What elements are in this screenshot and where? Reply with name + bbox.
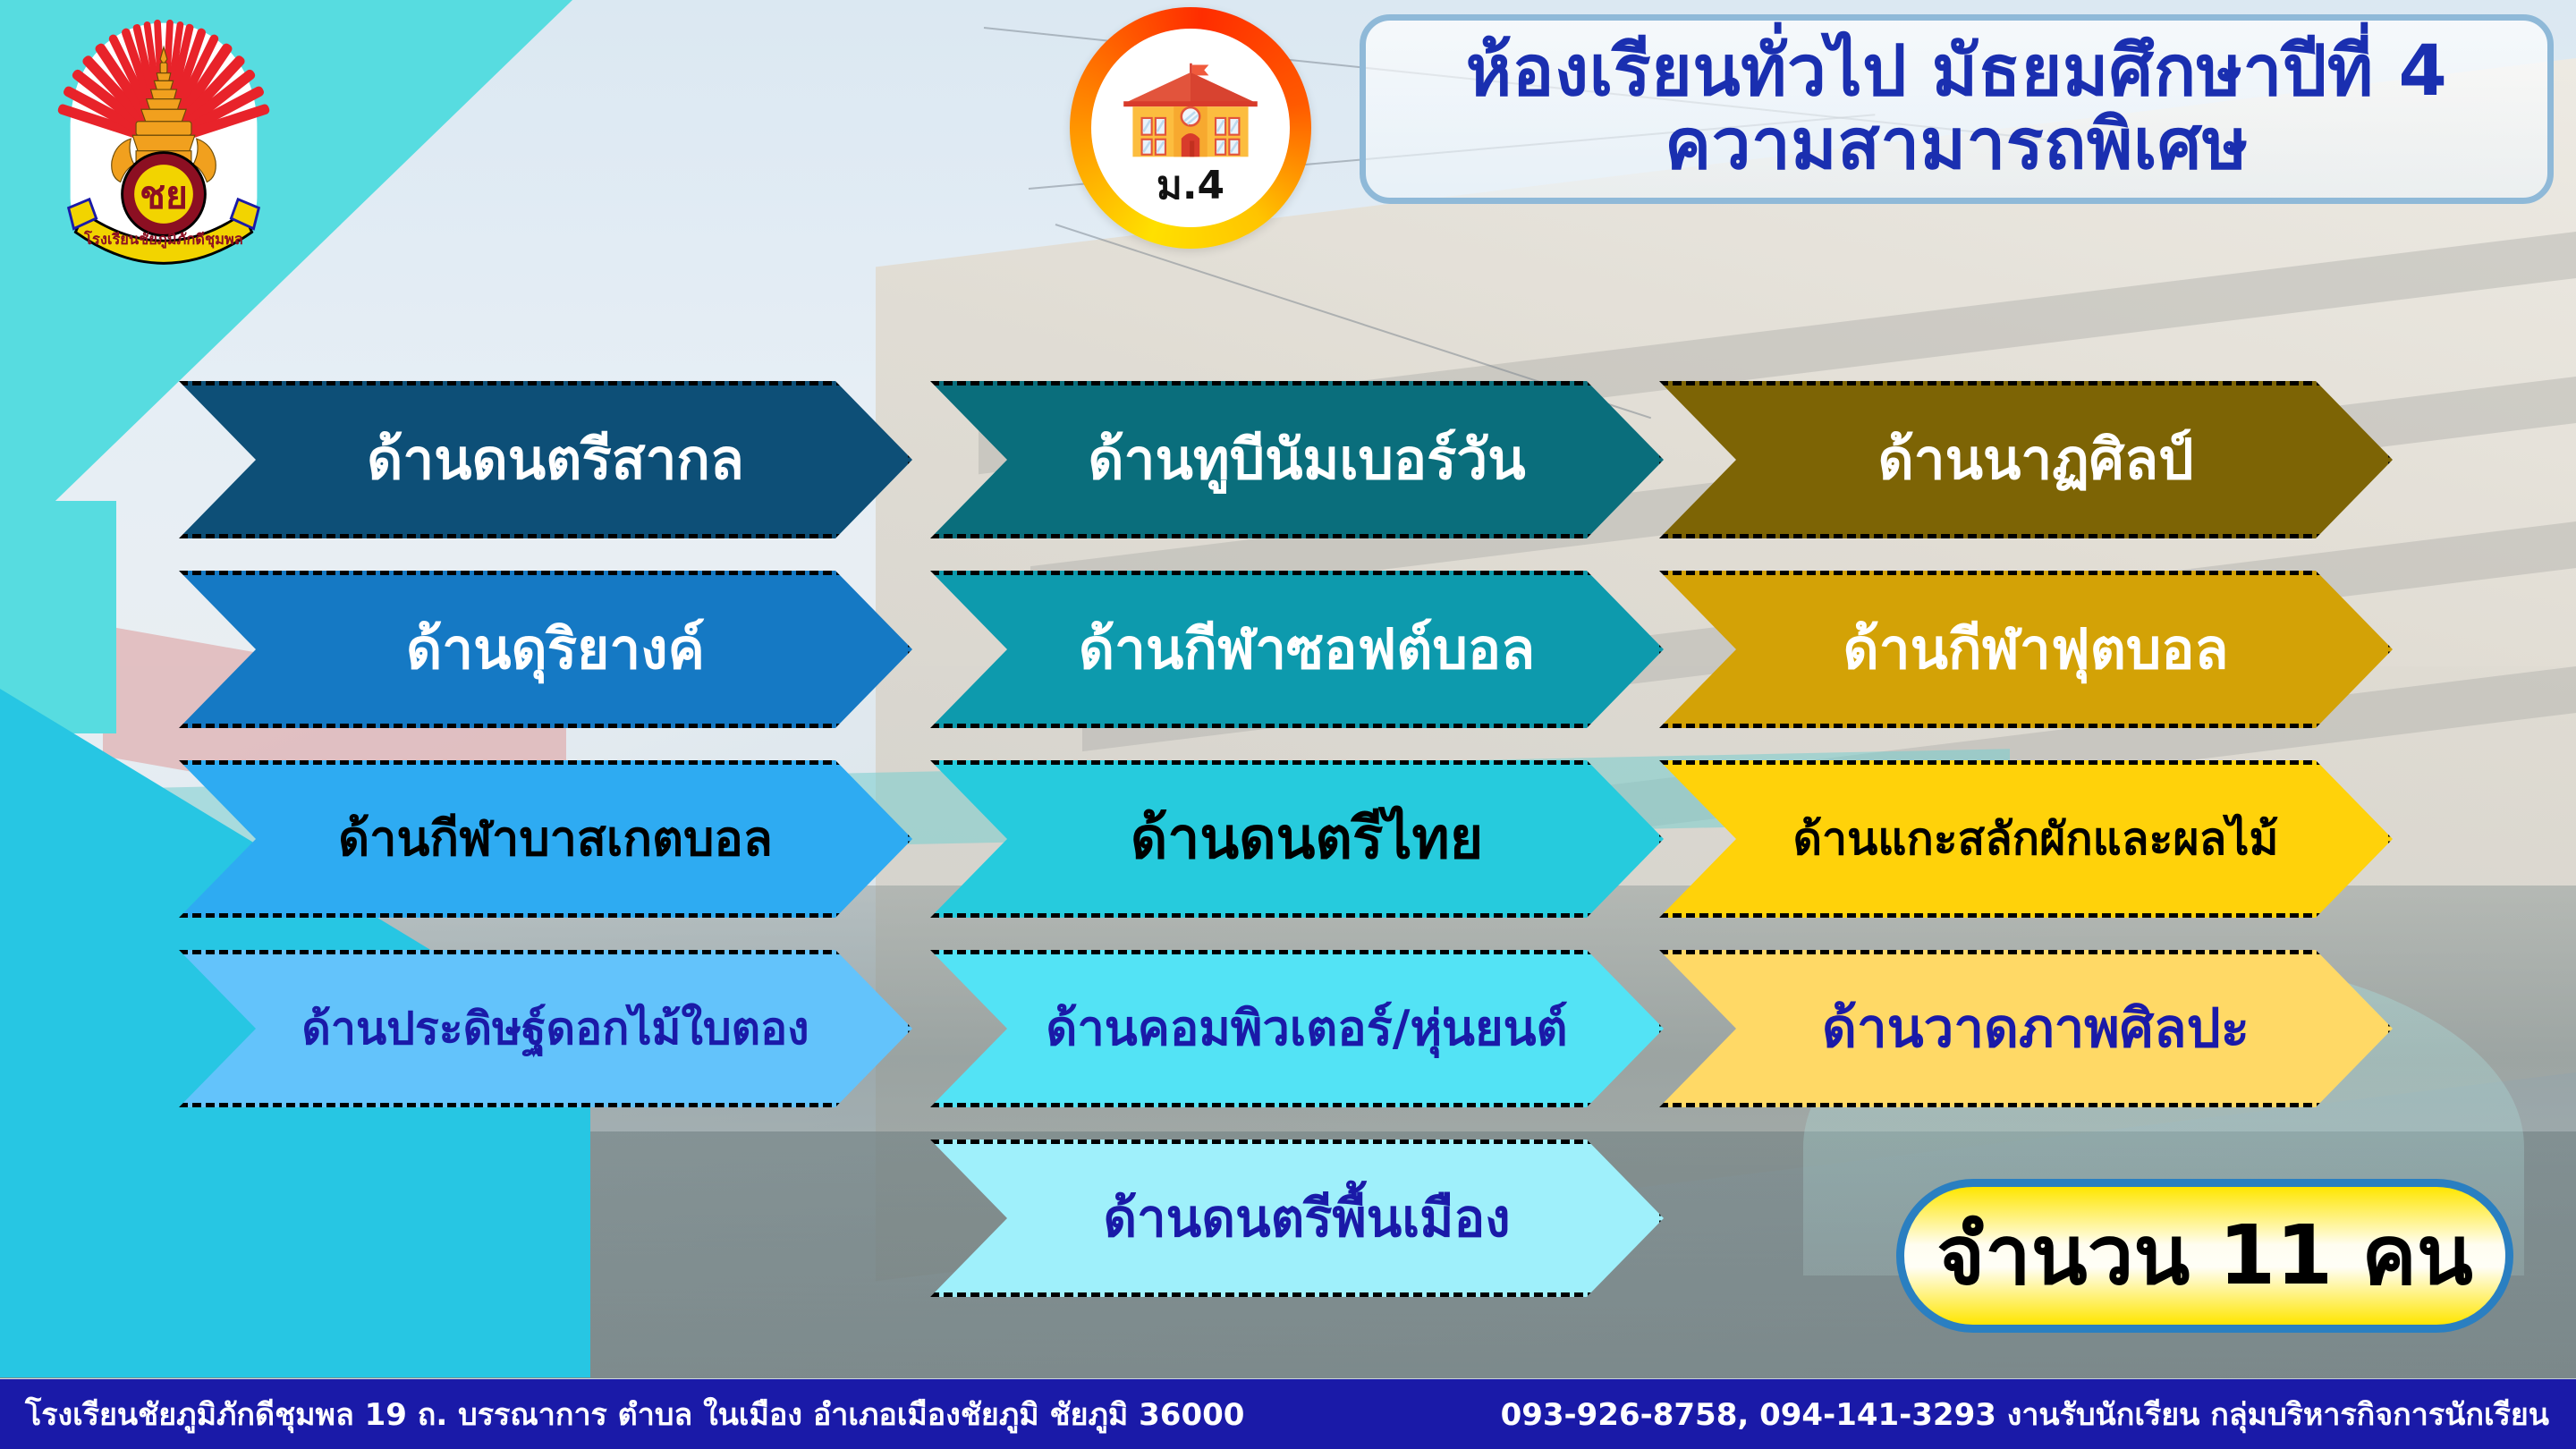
student-count-label: จำนวน 11 คน — [1936, 1215, 2473, 1297]
talent-chevron[interactable]: ด้านดนตรีสากล — [179, 381, 912, 538]
talent-chevron[interactable]: ด้านนาฏศิลป์ — [1659, 381, 2393, 538]
svg-text:โรงเรียนชัยภูมิภักดีชุมพล: โรงเรียนชัยภูมิภักดีชุมพล — [83, 230, 243, 250]
talent-chevron[interactable]: ด้านดนตรีพื้นเมือง — [930, 1140, 1664, 1297]
footer-bar: โรงเรียนชัยภูมิภักดีชุมพล 19 ถ. บรรณาการ… — [0, 1379, 2576, 1449]
page-title-line-1: ห้องเรียนทั่วไป มัธยมศึกษาปีที่ 4 — [1466, 37, 2448, 108]
student-count-badge: จำนวน 11 คน — [1896, 1179, 2513, 1333]
grade-badge: ม.4 — [1070, 7, 1311, 249]
talent-chevron-label: ด้านดนตรีสากล — [347, 432, 744, 487]
talent-chevron[interactable]: ด้านแกะสลักผักและผลไม้ — [1659, 760, 2393, 918]
talent-chevron-label: ด้านดนตรีพื้นเมือง — [1083, 1192, 1510, 1244]
talent-chevron-label: ด้านทูบีนัมเบอร์วัน — [1068, 432, 1525, 487]
talent-chevron[interactable]: ด้านประดิษฐ์ดอกไม้ใบตอง — [179, 950, 912, 1107]
talent-chevron[interactable]: ด้านดุริยางค์ — [179, 571, 912, 728]
talent-chevron-label: ด้านกีฬาบาสเกตบอล — [318, 815, 773, 863]
grade-badge-label: ม.4 — [1157, 166, 1224, 206]
poster-root: ชย โรงเรียนชัยภูมิภักดีชุมพล — [0, 0, 2576, 1449]
footer-contact: 093-926-8758, 094-141-3293 งานรับนักเรีย… — [1501, 1390, 2549, 1438]
talent-chevron-label: ด้านคอมพิวเตอร์/หุ่นยนต์ — [1026, 1004, 1567, 1053]
talent-chevron-label: ด้านดนตรีไทย — [1111, 810, 1483, 868]
talent-chevron-label: ด้านวาดภาพศิลปะ — [1802, 1002, 2250, 1055]
talent-chevron-label: ด้านประดิษฐ์ดอกไม้ใบตอง — [282, 1006, 809, 1051]
talent-chevron[interactable]: ด้านดนตรีไทย — [930, 760, 1664, 918]
talent-chevron-label: ด้านนาฏศิลป์ — [1859, 432, 2194, 487]
svg-text:ชย: ชย — [140, 174, 188, 217]
talent-chevron-label: ด้านแกะสลักผักและผลไม้ — [1774, 817, 2279, 861]
talent-chevron[interactable]: ด้านกีฬาบาสเกตบอล — [179, 760, 912, 918]
talent-chevron-label: ด้านกีฬาซอฟต์บอล — [1059, 622, 1535, 677]
page-title: ห้องเรียนทั่วไป มัธยมศึกษาปีที่ 4 ความสา… — [1360, 14, 2554, 204]
grade-badge-inner: ม.4 — [1091, 29, 1289, 226]
footer-address: โรงเรียนชัยภูมิภักดีชุมพล 19 ถ. บรรณาการ… — [25, 1390, 1244, 1438]
school-crest-logo: ชย โรงเรียนชัยภูมิภักดีชุมพล — [34, 13, 293, 272]
talent-chevron[interactable]: ด้านกีฬาฟุตบอล — [1659, 571, 2393, 728]
talent-chevron[interactable]: ด้านวาดภาพศิลปะ — [1659, 950, 2393, 1107]
talent-chevron[interactable]: ด้านทูบีนัมเบอร์วัน — [930, 381, 1664, 538]
talent-chevron-label: ด้านดุริยางค์ — [386, 622, 705, 677]
page-title-line-2: ความสามารถพิเศษ — [1665, 110, 2249, 182]
talent-chevron[interactable]: ด้านกีฬาซอฟต์บอล — [930, 571, 1664, 728]
talent-chevron-label: ด้านกีฬาฟุตบอล — [1824, 622, 2229, 677]
school-building-icon — [1114, 50, 1267, 170]
talent-chevron[interactable]: ด้านคอมพิวเตอร์/หุ่นยนต์ — [930, 950, 1664, 1107]
